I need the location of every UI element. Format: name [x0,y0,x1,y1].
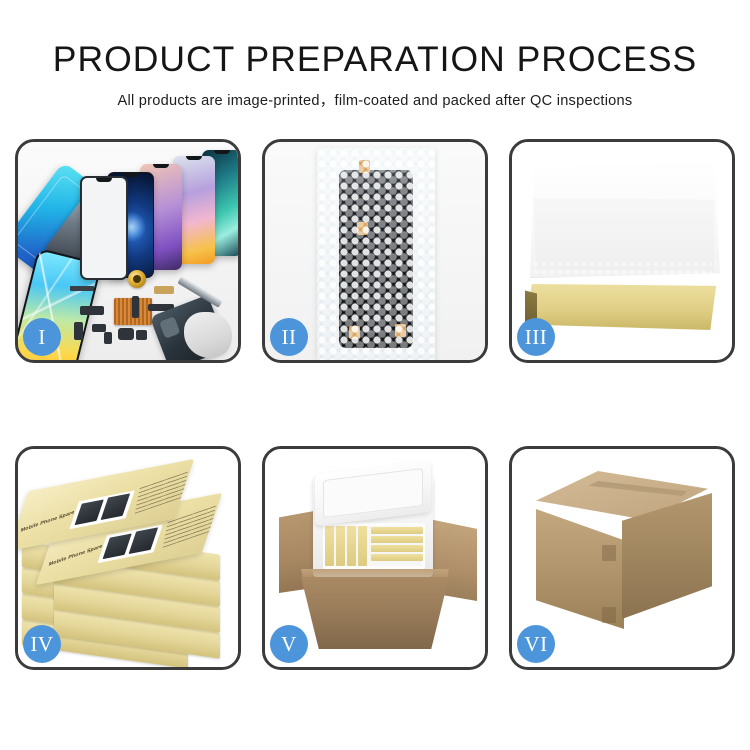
process-step-3[interactable]: III [509,139,735,363]
page-header: PRODUCT PREPARATION PROCESS All products… [0,0,750,110]
step-badge-4: IV [23,625,61,663]
bubble-bag [317,148,435,360]
step-badge-3: III [517,318,555,356]
kraft-box-base [526,284,720,330]
step-badge-2: II [270,318,308,356]
page-subtitle: All products are image-printed，film-coat… [0,78,750,110]
process-step-5[interactable]: V [262,446,488,670]
page-title: PRODUCT PREPARATION PROCESS [0,0,750,78]
process-step-2[interactable]: II [262,139,488,363]
step-badge-1: I [23,318,61,356]
step-badge-6: VI [517,625,555,663]
spare-parts-cluster [70,270,220,360]
process-step-6[interactable]: VI [509,446,735,670]
process-step-4[interactable]: Mobile Phone Spare Parts Mobile Phone Sp… [15,446,241,670]
process-step-1[interactable]: I [15,139,241,363]
carton-body [301,577,449,649]
phone-fan [80,150,238,280]
yellow-boxes-inside [323,523,425,569]
process-step-grid: I II I [15,139,735,670]
step-badge-5: V [270,625,308,663]
